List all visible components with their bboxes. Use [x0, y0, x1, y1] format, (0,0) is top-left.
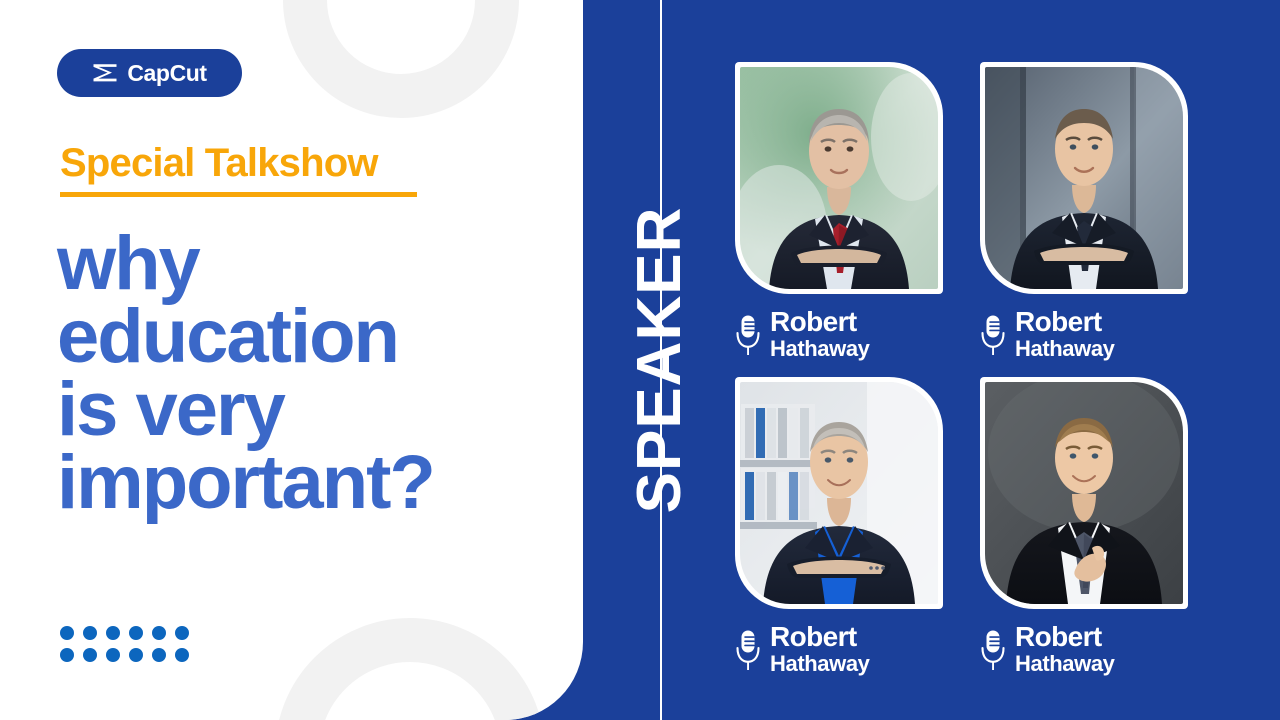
- decorative-dot-grid: [60, 626, 191, 664]
- speaker-last-name: Hathaway: [770, 337, 870, 362]
- decorative-dot: [129, 648, 143, 662]
- speaker-photo-frame: [735, 377, 943, 609]
- speaker-card[interactable]: RobertHathaway: [735, 62, 943, 352]
- decorative-dot: [129, 626, 143, 640]
- headline: why education is very important?: [57, 228, 434, 520]
- decorative-ring-top: [283, 0, 519, 118]
- capcut-logo-badge[interactable]: CapCut: [57, 49, 242, 97]
- speaker-photo: [985, 382, 1183, 604]
- logo-wordmark: CapCut: [127, 62, 206, 85]
- speaker-name-row: RobertHathaway: [980, 623, 1188, 676]
- microphone-icon: [735, 314, 761, 356]
- speaker-grid: RobertHathaway: [735, 62, 1205, 687]
- decorative-dot: [175, 648, 189, 662]
- decorative-dot: [60, 648, 74, 662]
- eyebrow-block: Special Talkshow: [60, 142, 417, 197]
- speaker-photo-frame: [980, 62, 1188, 294]
- speaker-name-row: RobertHathaway: [980, 308, 1188, 361]
- decorative-dot: [106, 648, 120, 662]
- headline-line-4: important?: [57, 447, 434, 520]
- decorative-dot: [152, 626, 166, 640]
- speaker-card[interactable]: RobertHathaway: [980, 377, 1188, 667]
- speaker-name-row: RobertHathaway: [735, 308, 943, 361]
- speaker-name-text: RobertHathaway: [770, 308, 870, 361]
- speaker-first-name: Robert: [1015, 308, 1115, 337]
- speaker-first-name: Robert: [770, 308, 870, 337]
- eyebrow-label: Special Talkshow: [60, 142, 417, 184]
- speaker-last-name: Hathaway: [1015, 652, 1115, 677]
- speaker-card[interactable]: RobertHathaway: [980, 62, 1188, 352]
- microphone-icon: [980, 314, 1006, 356]
- decorative-dot: [106, 626, 120, 640]
- speaker-photo-frame: [735, 62, 943, 294]
- decorative-dot: [83, 626, 97, 640]
- speaker-name-row: RobertHathaway: [735, 623, 943, 676]
- poster-canvas: CapCut Special Talkshow why education is…: [0, 0, 1280, 720]
- microphone-icon: [735, 629, 761, 671]
- headline-line-2: education: [57, 301, 434, 374]
- headline-line-1: why: [57, 228, 434, 301]
- speaker-last-name: Hathaway: [770, 652, 870, 677]
- speaker-photo: [985, 67, 1183, 289]
- speaker-name-text: RobertHathaway: [1015, 308, 1115, 361]
- microphone-icon: [980, 629, 1006, 671]
- decorative-ring-bottom: [275, 618, 545, 720]
- headline-line-3: is very: [57, 374, 434, 447]
- capcut-hourglass-icon: [92, 63, 118, 83]
- speaker-name-text: RobertHathaway: [770, 623, 870, 676]
- speaker-first-name: Robert: [770, 623, 870, 652]
- decorative-dot: [152, 648, 166, 662]
- speaker-photo: [740, 382, 938, 604]
- speaker-card[interactable]: RobertHathaway: [735, 377, 943, 667]
- speaker-photo: [740, 67, 938, 289]
- decorative-dot: [83, 648, 97, 662]
- speaker-section-label: SPEAKER: [629, 207, 691, 514]
- eyebrow-underline: [60, 192, 417, 197]
- speaker-photo-frame: [980, 377, 1188, 609]
- decorative-dot: [175, 626, 189, 640]
- decorative-dot: [60, 626, 74, 640]
- speaker-last-name: Hathaway: [1015, 337, 1115, 362]
- speaker-name-text: RobertHathaway: [1015, 623, 1115, 676]
- speaker-first-name: Robert: [1015, 623, 1115, 652]
